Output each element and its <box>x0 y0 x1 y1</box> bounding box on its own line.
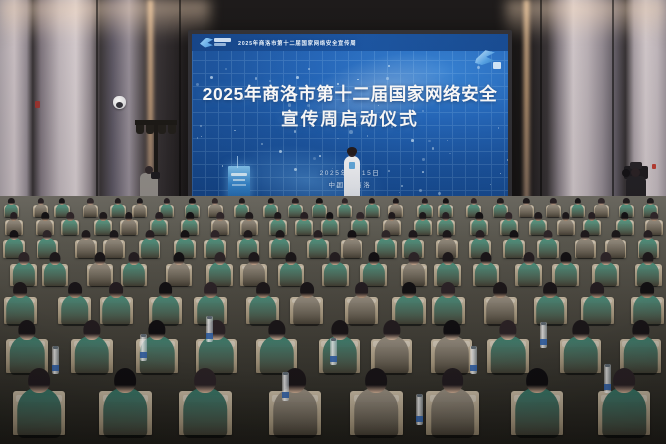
audience-head <box>632 320 649 340</box>
audience-head <box>366 368 388 393</box>
water-bottle <box>140 334 147 361</box>
audience-head <box>475 230 484 240</box>
audience-head <box>388 212 396 221</box>
audience-member <box>121 212 136 238</box>
audience-head <box>560 252 571 265</box>
cyber-security-week-logo <box>200 37 231 49</box>
audience-head <box>534 212 542 221</box>
audience-head <box>145 230 154 240</box>
audience-head <box>19 320 36 340</box>
water-bottle <box>540 322 547 348</box>
audience-shoulders <box>324 262 346 287</box>
audience-shoulders <box>184 388 228 437</box>
audience-member <box>293 282 321 329</box>
audience-head <box>408 230 417 240</box>
audience-member <box>17 368 61 442</box>
audience-head <box>214 252 225 265</box>
audience-head <box>256 282 270 298</box>
audience-head <box>581 230 590 240</box>
audience-head <box>156 212 164 221</box>
stage-light-truss <box>135 120 177 150</box>
audience-member <box>355 368 399 442</box>
audience-head <box>115 368 137 393</box>
audience-head <box>419 212 427 221</box>
screen-dot <box>308 68 310 70</box>
audience-head <box>500 320 517 340</box>
audience-head <box>41 212 49 221</box>
audience-head <box>286 252 297 265</box>
audience-head <box>347 230 356 240</box>
audience-head <box>643 252 654 265</box>
audience-head <box>195 368 217 393</box>
audience-shoulders <box>431 388 475 437</box>
audience-head <box>355 282 369 298</box>
audience-member <box>322 320 357 379</box>
audience-head <box>644 230 653 240</box>
water-bottle <box>330 338 337 365</box>
audience-head <box>442 212 450 221</box>
audience-head <box>505 212 513 221</box>
audience-shoulders <box>274 388 318 437</box>
floor-microphone <box>237 156 238 168</box>
audience-head <box>527 368 549 393</box>
water-bottle <box>604 364 611 393</box>
audience-head <box>368 252 379 265</box>
ceiling-glow-right <box>506 0 666 40</box>
audience-head <box>43 230 52 240</box>
audience-head <box>443 230 452 240</box>
screen-dot <box>296 76 299 79</box>
audience-head <box>600 252 611 265</box>
audience-head <box>510 230 519 240</box>
audience-shoulders <box>516 388 560 437</box>
audience-shoulders <box>603 388 647 437</box>
audience-head <box>210 230 219 240</box>
audience-head <box>481 252 492 265</box>
audience-head <box>148 320 165 340</box>
water-bottle <box>52 346 59 374</box>
audience-member <box>324 252 346 290</box>
emergency-exit-indicator <box>35 101 40 108</box>
audience-head <box>67 212 75 221</box>
audience-member <box>563 320 598 379</box>
audience-head <box>402 282 416 298</box>
screen-dot <box>386 77 388 79</box>
audience-head <box>204 282 218 298</box>
audience-shoulders <box>63 219 78 236</box>
audience-head <box>357 212 365 221</box>
audience-head <box>650 212 658 221</box>
audience-head <box>244 230 253 240</box>
audience-head <box>572 320 589 340</box>
audience-shoulders <box>339 204 352 218</box>
audience-shoulders <box>571 204 584 218</box>
audience-member <box>558 212 573 238</box>
audience-head <box>275 230 284 240</box>
audience-head <box>82 230 91 240</box>
audience-head <box>14 282 28 298</box>
audience-member <box>104 368 148 442</box>
audience-head <box>383 320 400 340</box>
audience-shoulders <box>104 388 148 437</box>
audience-head <box>614 368 636 393</box>
audience-head <box>409 252 420 265</box>
audience-seating <box>0 196 666 444</box>
screen-dot <box>507 159 508 162</box>
water-bottle <box>416 394 423 425</box>
audience-shoulders <box>322 336 357 375</box>
audience-member <box>184 368 228 442</box>
audience-head <box>588 212 596 221</box>
audience-head <box>99 212 107 221</box>
audience-head <box>443 320 460 340</box>
screen-dot <box>432 147 434 149</box>
audience-head <box>109 230 118 240</box>
audience-head <box>640 282 654 298</box>
audience-shoulders <box>293 295 321 326</box>
screen-dot <box>422 158 424 160</box>
audience-head <box>186 212 194 221</box>
audience-head <box>159 282 173 298</box>
audience-shoulders <box>558 219 573 236</box>
screen-dot <box>337 138 339 140</box>
screen-dot <box>438 192 441 195</box>
audience-head <box>441 282 455 298</box>
audience-head <box>442 252 453 265</box>
audience-shoulders <box>576 238 594 258</box>
audience-member <box>571 198 584 219</box>
water-bottle <box>206 316 213 342</box>
screen-dot <box>367 135 368 136</box>
audience-head <box>330 252 341 265</box>
audience-member <box>576 230 594 261</box>
audience-shoulders <box>121 219 136 236</box>
audience-head <box>173 252 184 265</box>
audience-head <box>274 212 282 221</box>
audience-head <box>300 282 314 298</box>
audience-head <box>562 212 570 221</box>
screen-banner-text: 2025年商洛市第十二届国家网络安全宣传周 <box>238 39 356 47</box>
audience-head <box>543 230 552 240</box>
screen-title-line-1: 2025年商洛市第十二届国家网络安全 <box>192 82 508 107</box>
audience-member <box>63 212 78 238</box>
audience-head <box>49 252 60 265</box>
screen-dot <box>449 153 450 154</box>
audience-head <box>331 320 348 340</box>
screen-dot <box>428 140 431 143</box>
camera-operator-left <box>139 166 159 200</box>
audience-head <box>300 212 308 221</box>
audience-head <box>128 252 139 265</box>
screen-dot <box>313 157 316 160</box>
audience-head <box>442 368 464 393</box>
audience-head <box>216 212 224 221</box>
audience-head <box>83 320 100 340</box>
audience-head <box>590 282 604 298</box>
audience-head <box>18 252 29 265</box>
audience-shoulders <box>355 388 399 437</box>
audience-head <box>125 212 133 221</box>
audience-head <box>245 212 253 221</box>
ptz-security-camera-icon <box>113 96 126 109</box>
screen-top-banner: 2025年商洛市第十二届国家网络安全宣传周 <box>192 34 508 51</box>
audience-head <box>180 230 189 240</box>
audience-head <box>475 212 483 221</box>
water-bottle <box>470 346 477 374</box>
audience-shoulders <box>563 336 598 375</box>
audience-head <box>10 230 19 240</box>
audience-member <box>339 198 352 219</box>
audience-head <box>314 230 323 240</box>
audience-head <box>28 368 50 393</box>
audience-head <box>621 212 629 221</box>
audience-head <box>248 252 259 265</box>
audience-head <box>543 282 557 298</box>
screen-title-line-2: 宣传周启动仪式 <box>192 107 508 132</box>
audience-head <box>268 320 285 340</box>
water-bottle <box>282 372 289 401</box>
audience-member <box>516 368 560 442</box>
audience-head <box>523 252 534 265</box>
audience-head <box>94 252 105 265</box>
audience-head <box>326 212 334 221</box>
audience-member <box>274 368 318 442</box>
audience-head <box>109 282 123 298</box>
audience-member <box>431 368 475 442</box>
screen-main-title: 2025年商洛市第十二届国家网络安全 宣传周启动仪式 <box>192 82 508 132</box>
s-swoosh-logo <box>474 48 501 70</box>
screenshot-root: 2025年商洛市第十二届国家网络安全宣传周 2025年商洛市第十二届国家网络安全… <box>0 0 666 444</box>
audience-head <box>611 230 620 240</box>
audience-head <box>493 282 507 298</box>
lectern <box>228 166 250 200</box>
audience-head <box>10 212 18 221</box>
audience-head <box>68 282 82 298</box>
audience-head <box>381 230 390 240</box>
audience-shoulders <box>17 388 61 437</box>
